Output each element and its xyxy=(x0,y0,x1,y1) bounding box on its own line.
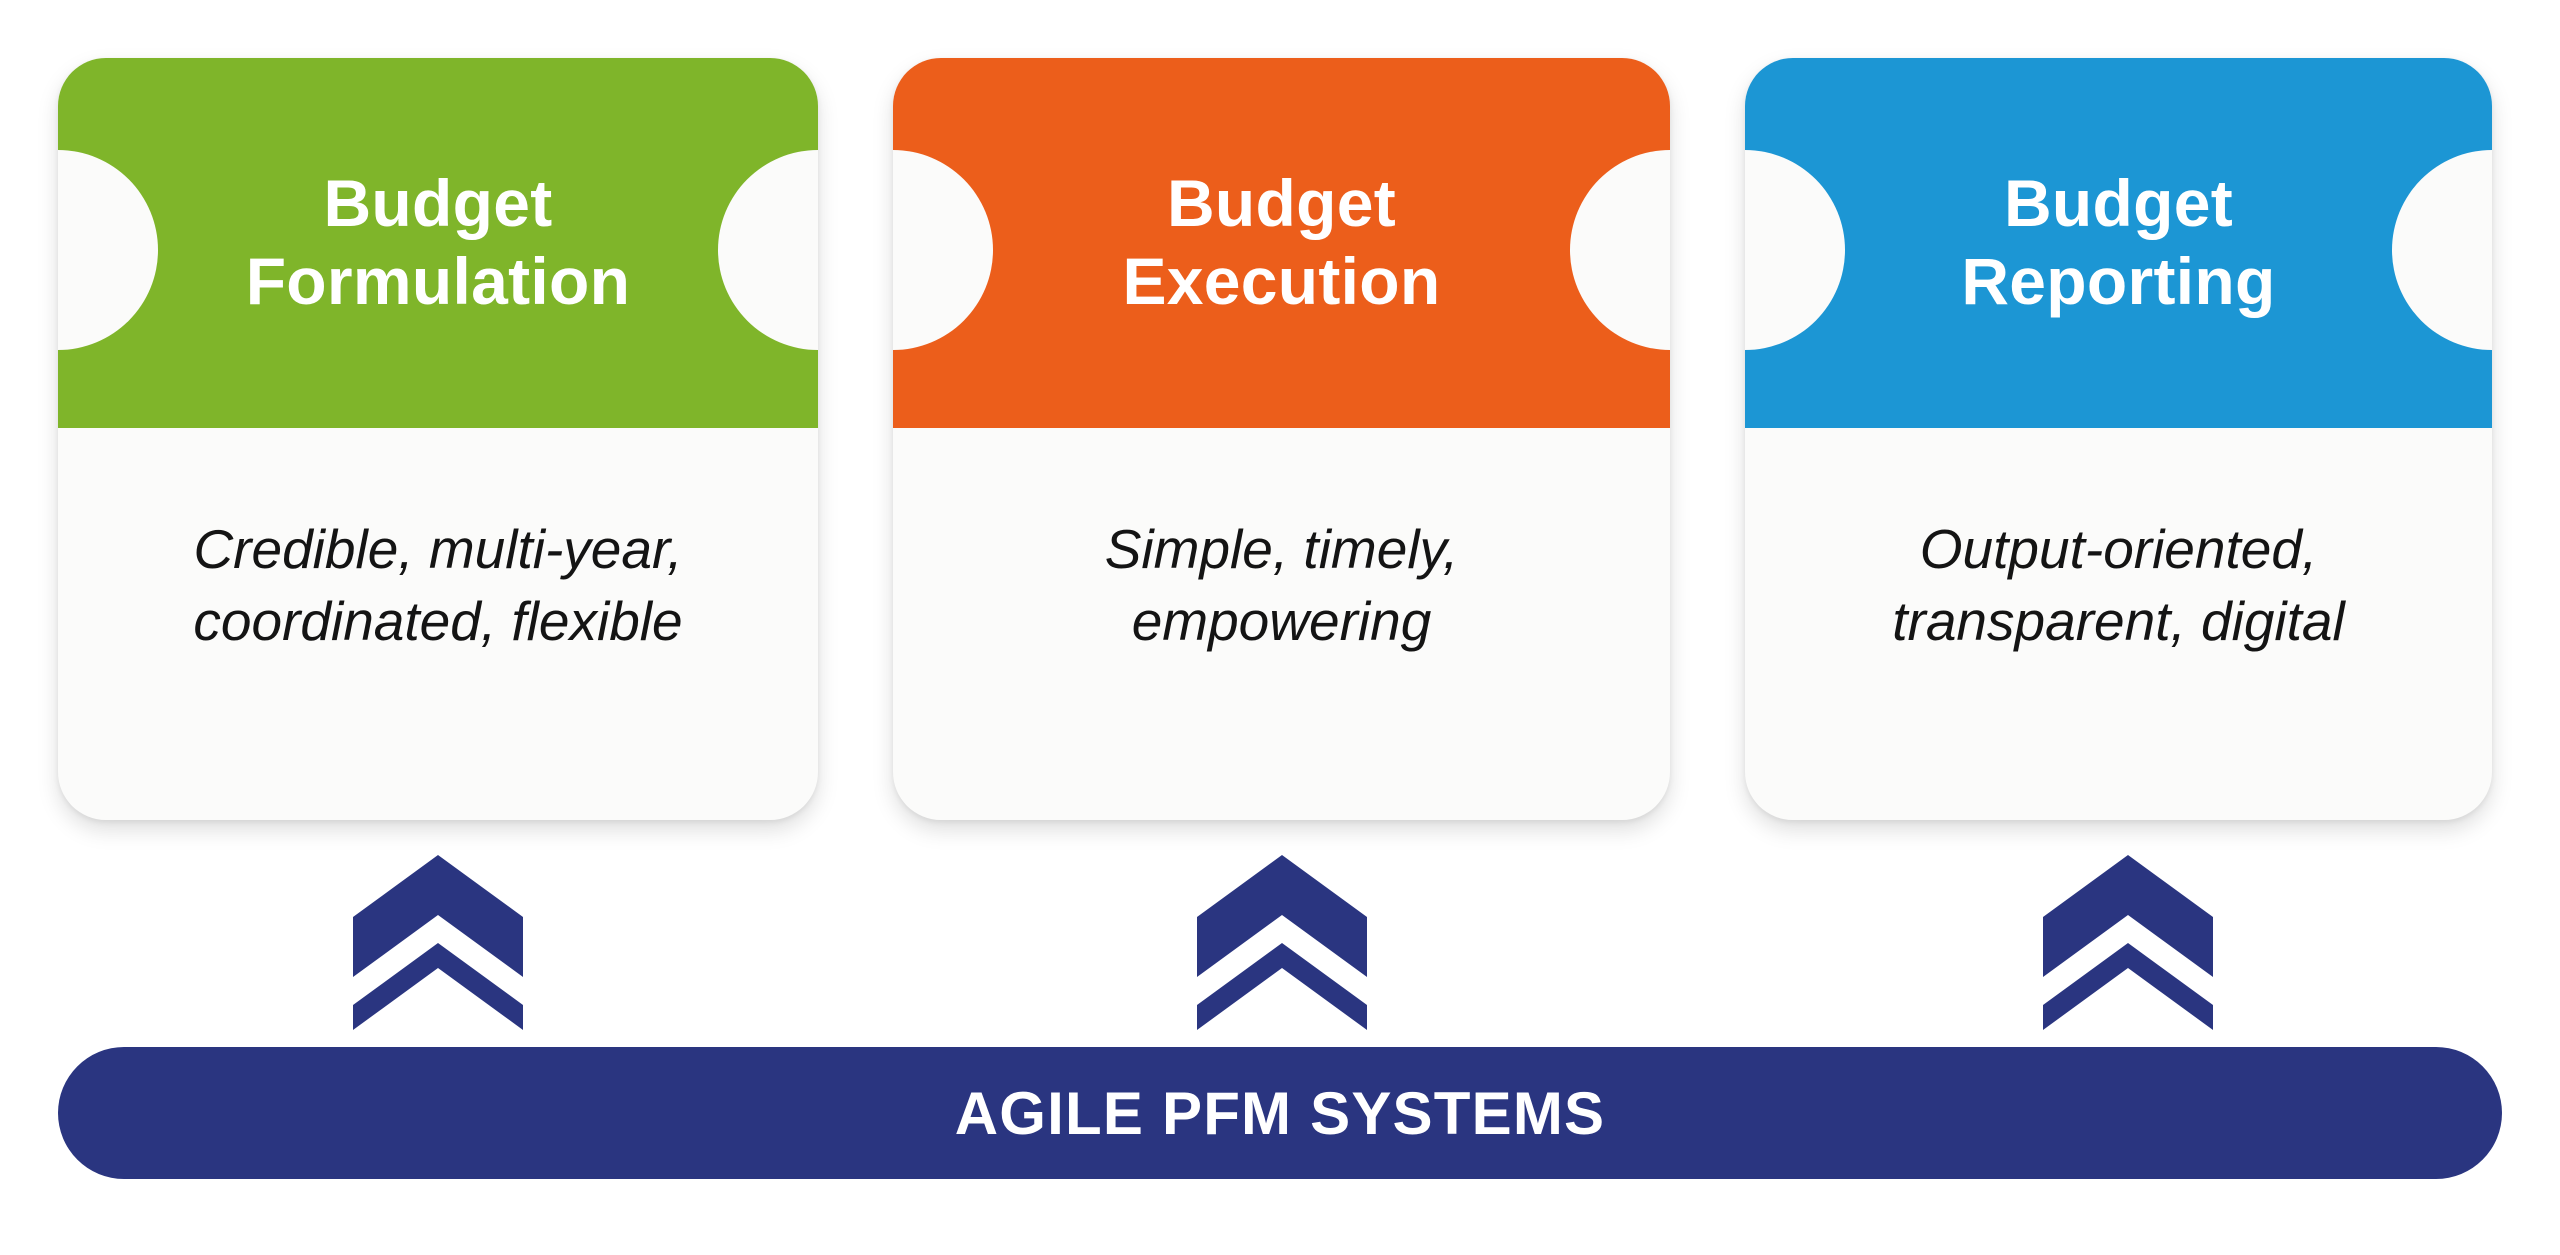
pillar-card-budget-reporting[interactable]: Budget Reporting Output-oriented, transp… xyxy=(1745,58,2492,820)
card-header-shape-orange xyxy=(893,58,1670,428)
foundation-bar[interactable]: AGILE PFM SYSTEMS xyxy=(58,1047,2502,1179)
pillar-cards-row: Budget Formulation Credible, multi-year,… xyxy=(0,0,2560,840)
card-description-budget-execution: Simple, timely, empowering xyxy=(893,428,1670,820)
pillar-card-budget-formulation[interactable]: Budget Formulation Credible, multi-year,… xyxy=(58,58,818,820)
double-chevron-up-icon-formulation xyxy=(353,855,523,1030)
foundation-bar-label: AGILE PFM SYSTEMS xyxy=(955,1079,1605,1148)
card-header-shape-green xyxy=(58,58,818,428)
diagram-canvas: Budget Formulation Credible, multi-year,… xyxy=(0,0,2560,1255)
card-description-budget-reporting: Output-oriented, transparent, digital xyxy=(1745,428,2492,820)
card-header-fill xyxy=(58,58,818,428)
card-header-fill xyxy=(1745,58,2492,428)
card-header-shape-blue xyxy=(1745,58,2492,428)
card-description-budget-formulation: Credible, multi-year, coordinated, flexi… xyxy=(58,428,818,820)
double-chevron-up-icon xyxy=(1197,855,1367,1030)
card-header-fill xyxy=(893,58,1670,428)
double-chevron-up-icon-reporting xyxy=(2043,855,2213,1030)
pillar-card-budget-execution[interactable]: Budget Execution Simple, timely, empower… xyxy=(893,58,1670,820)
double-chevron-up-icon xyxy=(2043,855,2213,1030)
double-chevron-up-icon xyxy=(353,855,523,1030)
double-chevron-up-icon-execution xyxy=(1197,855,1367,1030)
